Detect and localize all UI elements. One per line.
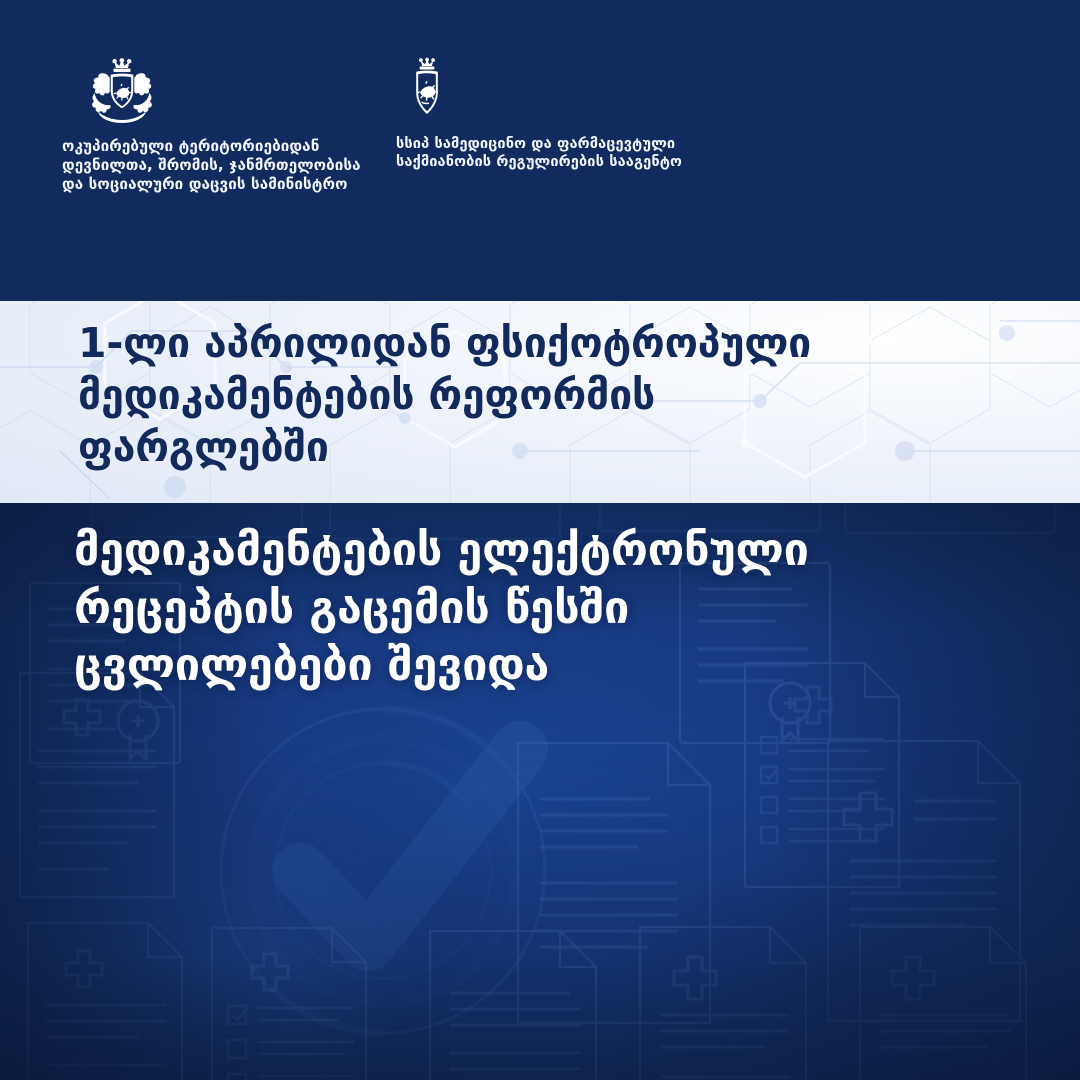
hero-headline: მედიკამენტების ელექტრონული რეცეპტის გაცე…: [74, 521, 1050, 694]
band-headline-line: ფარგლებში: [78, 421, 1040, 473]
org-line: ოკუპირებული ტერიტორიებიდან: [62, 137, 382, 156]
organization-agency: სსიპ სამედიცინო და ფარმაცევტული საქმიანო…: [396, 55, 756, 172]
org-line: დევნილთა, შრომის, ჯანმრთელობისა: [62, 156, 382, 175]
org-line: და სოციალური დაცვის სამინისტრო: [62, 175, 382, 194]
headline-band: 1-ლი აპრილიდან ფსიქოტროპული მედიკამენტებ…: [0, 301, 1080, 503]
band-headline: 1-ლი აპრილიდან ფსიქოტროპული მედიკამენტებ…: [78, 317, 1040, 473]
georgia-coat-of-arms-icon: [70, 55, 174, 127]
organization-agency-text: სსიპ სამედიცინო და ფარმაცევტული საქმიანო…: [396, 135, 756, 172]
georgia-shield-crest-icon: [404, 55, 450, 125]
org-line: საქმიანობის რეგულირების სააგენტო: [396, 153, 756, 171]
hero-headline-line: ცვლილებები შევიდა: [74, 636, 1050, 694]
hero-section: მედიკამენტების ელექტრონული რეცეპტის გაცე…: [0, 503, 1080, 1080]
band-headline-line: მედიკამენტების რეფორმის: [78, 369, 1040, 421]
header-bar: ოკუპირებული ტერიტორიებიდან დევნილთა, შრო…: [0, 0, 1080, 301]
organization-ministry: ოკუპირებული ტერიტორიებიდან დევნილთა, შრო…: [62, 55, 382, 194]
org-line: სსიპ სამედიცინო და ფარმაცევტული: [396, 135, 756, 153]
band-headline-line: 1-ლი აპრილიდან ფსიქოტროპული: [78, 317, 1040, 369]
poster-canvas: ოკუპირებული ტერიტორიებიდან დევნილთა, შრო…: [0, 0, 1080, 1080]
hero-headline-line: მედიკამენტების ელექტრონული: [74, 521, 1050, 579]
organization-ministry-text: ოკუპირებული ტერიტორიებიდან დევნილთა, შრო…: [62, 137, 382, 194]
hero-headline-line: რეცეპტის გაცემის წესში: [74, 579, 1050, 637]
